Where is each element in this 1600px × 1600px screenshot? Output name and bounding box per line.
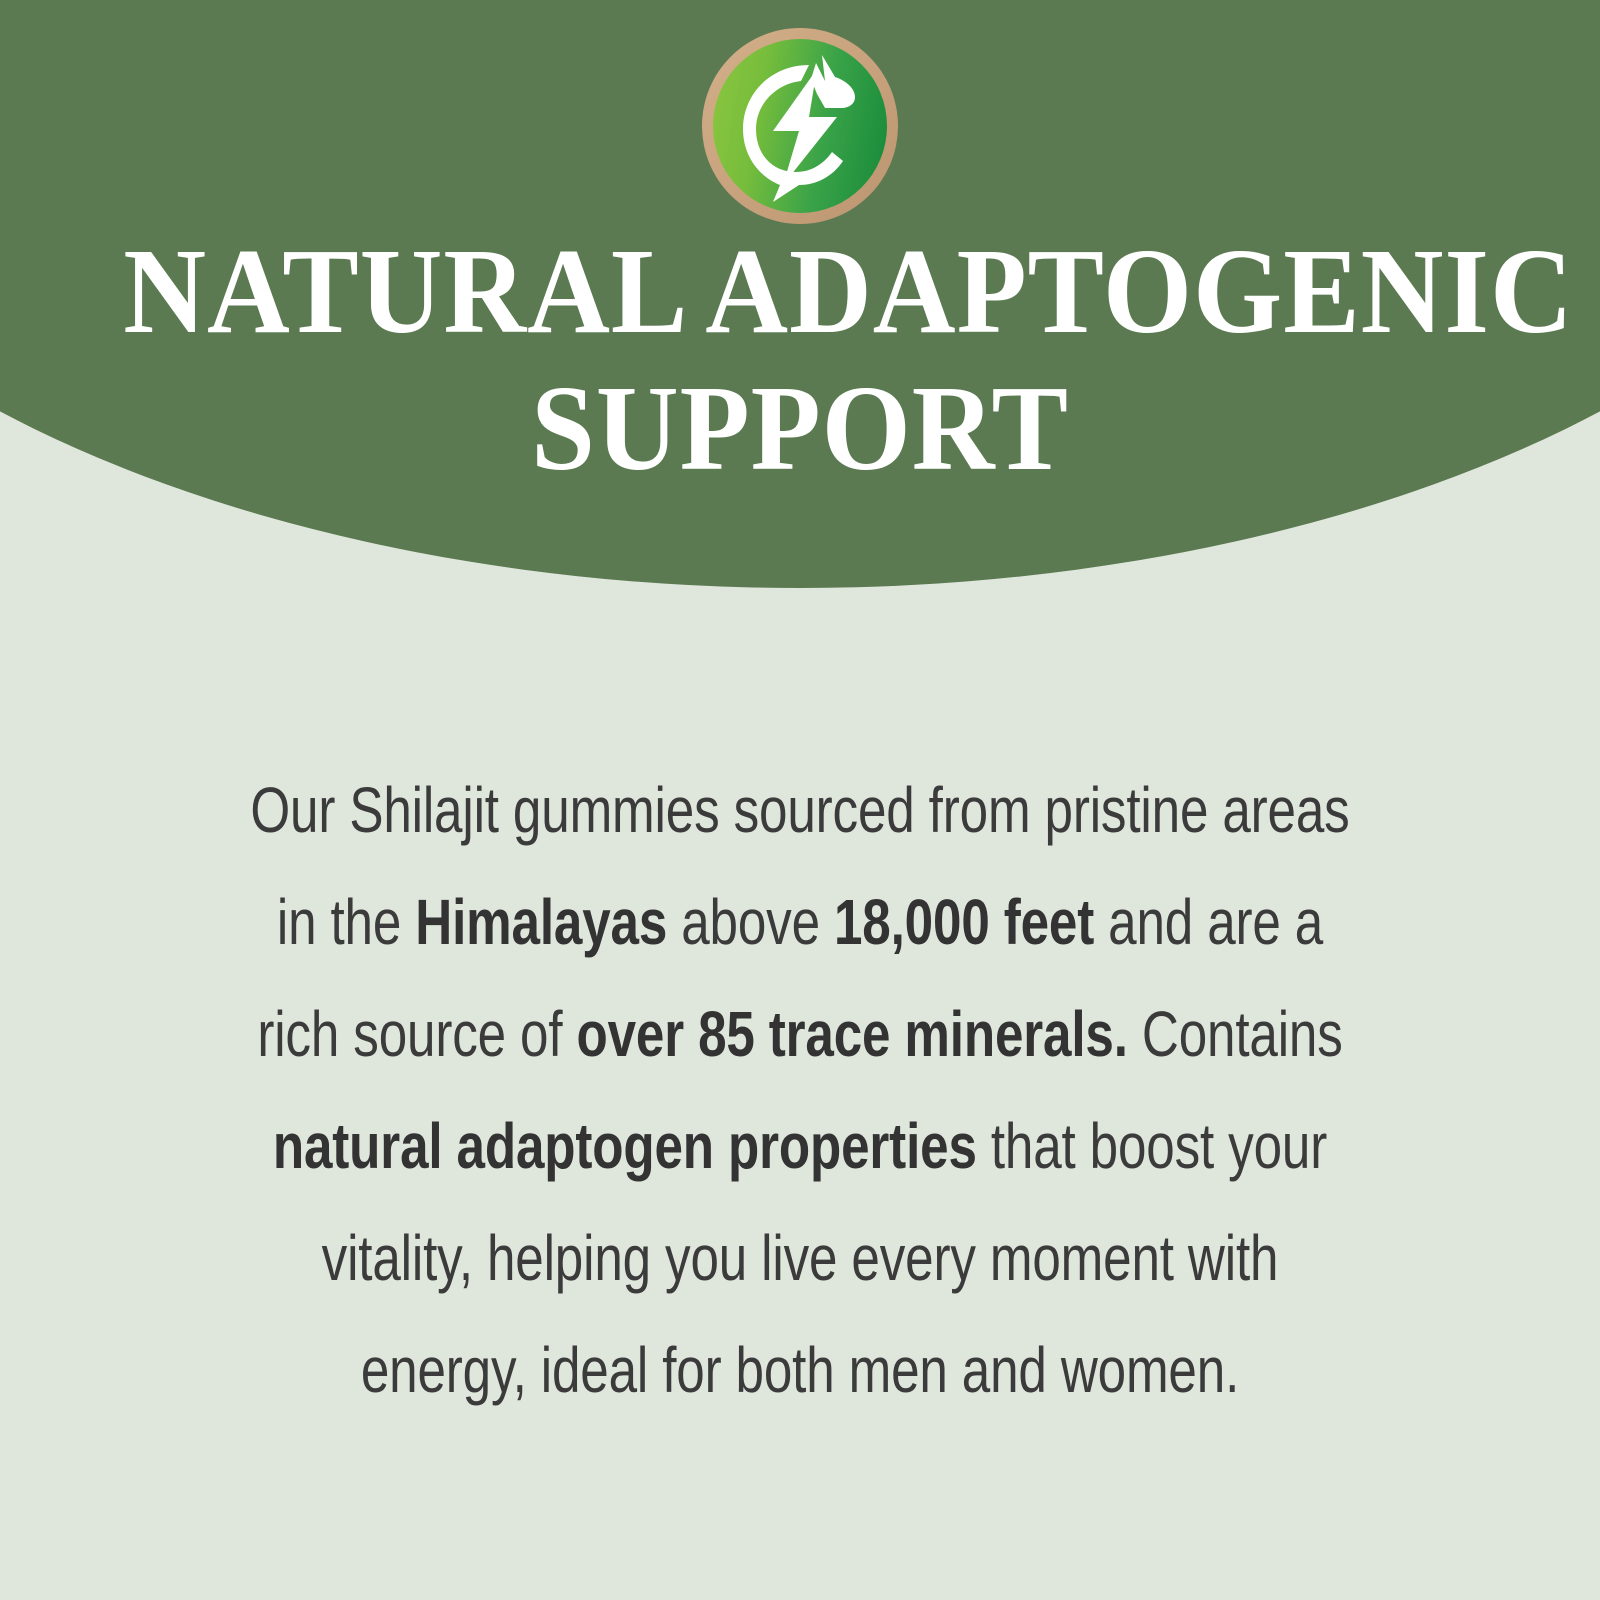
page-title-line-1: Natural Adaptogenic (123, 224, 1477, 361)
brand-logo (702, 28, 898, 224)
promo-poster: Natural Adaptogenic Support Our Shilajit… (0, 0, 1600, 1600)
logo-disc (713, 39, 887, 213)
description-emphasis-elevation: 18,000 feet (834, 886, 1094, 958)
page-title-line-2: Support (123, 361, 1477, 498)
description-part-4: Contains (1128, 998, 1343, 1070)
description-emphasis-minerals: over 85 trace minerals. (576, 998, 1127, 1070)
header-content: Natural Adaptogenic Support (0, 0, 1600, 600)
logo-energy-horse-icon (713, 39, 887, 213)
product-description: Our Shilajit gummies sourced from pristi… (160, 754, 1440, 1426)
page-title: Natural Adaptogenic Support (86, 224, 1515, 497)
description-emphasis-adaptogen: natural adaptogen properties (273, 1110, 977, 1182)
description-emphasis-himalayas: Himalayas (415, 886, 667, 958)
description-part-2: above (667, 886, 834, 958)
